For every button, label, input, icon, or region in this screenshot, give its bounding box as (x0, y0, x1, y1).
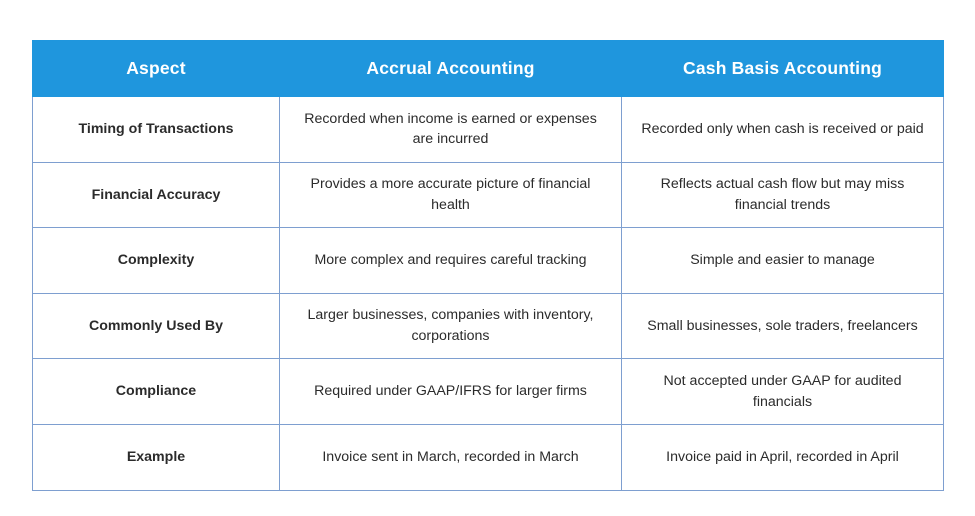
cell-cash: Simple and easier to manage (622, 228, 944, 294)
accounting-comparison-table: Aspect Accrual Accounting Cash Basis Acc… (32, 40, 944, 491)
column-header-aspect: Aspect (33, 41, 280, 97)
cell-accrual: Recorded when income is earned or expens… (280, 97, 622, 163)
cell-cash: Not accepted under GAAP for audited fina… (622, 359, 944, 425)
column-header-accrual-accounting: Accrual Accounting (280, 41, 622, 97)
table-body: Timing of Transactions Recorded when inc… (33, 97, 944, 491)
cell-accrual: Invoice sent in March, recorded in March (280, 424, 622, 490)
cell-cash: Reflects actual cash flow but may miss f… (622, 162, 944, 228)
cell-accrual: Larger businesses, companies with invent… (280, 293, 622, 359)
cell-accrual: Required under GAAP/IFRS for larger firm… (280, 359, 622, 425)
cell-aspect: Commonly Used By (33, 293, 280, 359)
cell-aspect: Compliance (33, 359, 280, 425)
table-header: Aspect Accrual Accounting Cash Basis Acc… (33, 41, 944, 97)
cell-aspect: Example (33, 424, 280, 490)
page-root: Aspect Accrual Accounting Cash Basis Acc… (0, 0, 975, 516)
comparison-table-container: Aspect Accrual Accounting Cash Basis Acc… (32, 40, 943, 491)
table-row: Timing of Transactions Recorded when inc… (33, 97, 944, 163)
cell-accrual: Provides a more accurate picture of fina… (280, 162, 622, 228)
table-row: Commonly Used By Larger businesses, comp… (33, 293, 944, 359)
table-row: Compliance Required under GAAP/IFRS for … (33, 359, 944, 425)
cell-cash: Recorded only when cash is received or p… (622, 97, 944, 163)
cell-cash: Invoice paid in April, recorded in April (622, 424, 944, 490)
cell-aspect: Complexity (33, 228, 280, 294)
cell-aspect: Financial Accuracy (33, 162, 280, 228)
cell-aspect: Timing of Transactions (33, 97, 280, 163)
table-row: Example Invoice sent in March, recorded … (33, 424, 944, 490)
cell-cash: Small businesses, sole traders, freelanc… (622, 293, 944, 359)
table-row: Complexity More complex and requires car… (33, 228, 944, 294)
table-row: Financial Accuracy Provides a more accur… (33, 162, 944, 228)
column-header-cash-basis-accounting: Cash Basis Accounting (622, 41, 944, 97)
table-header-row: Aspect Accrual Accounting Cash Basis Acc… (33, 41, 944, 97)
cell-accrual: More complex and requires careful tracki… (280, 228, 622, 294)
